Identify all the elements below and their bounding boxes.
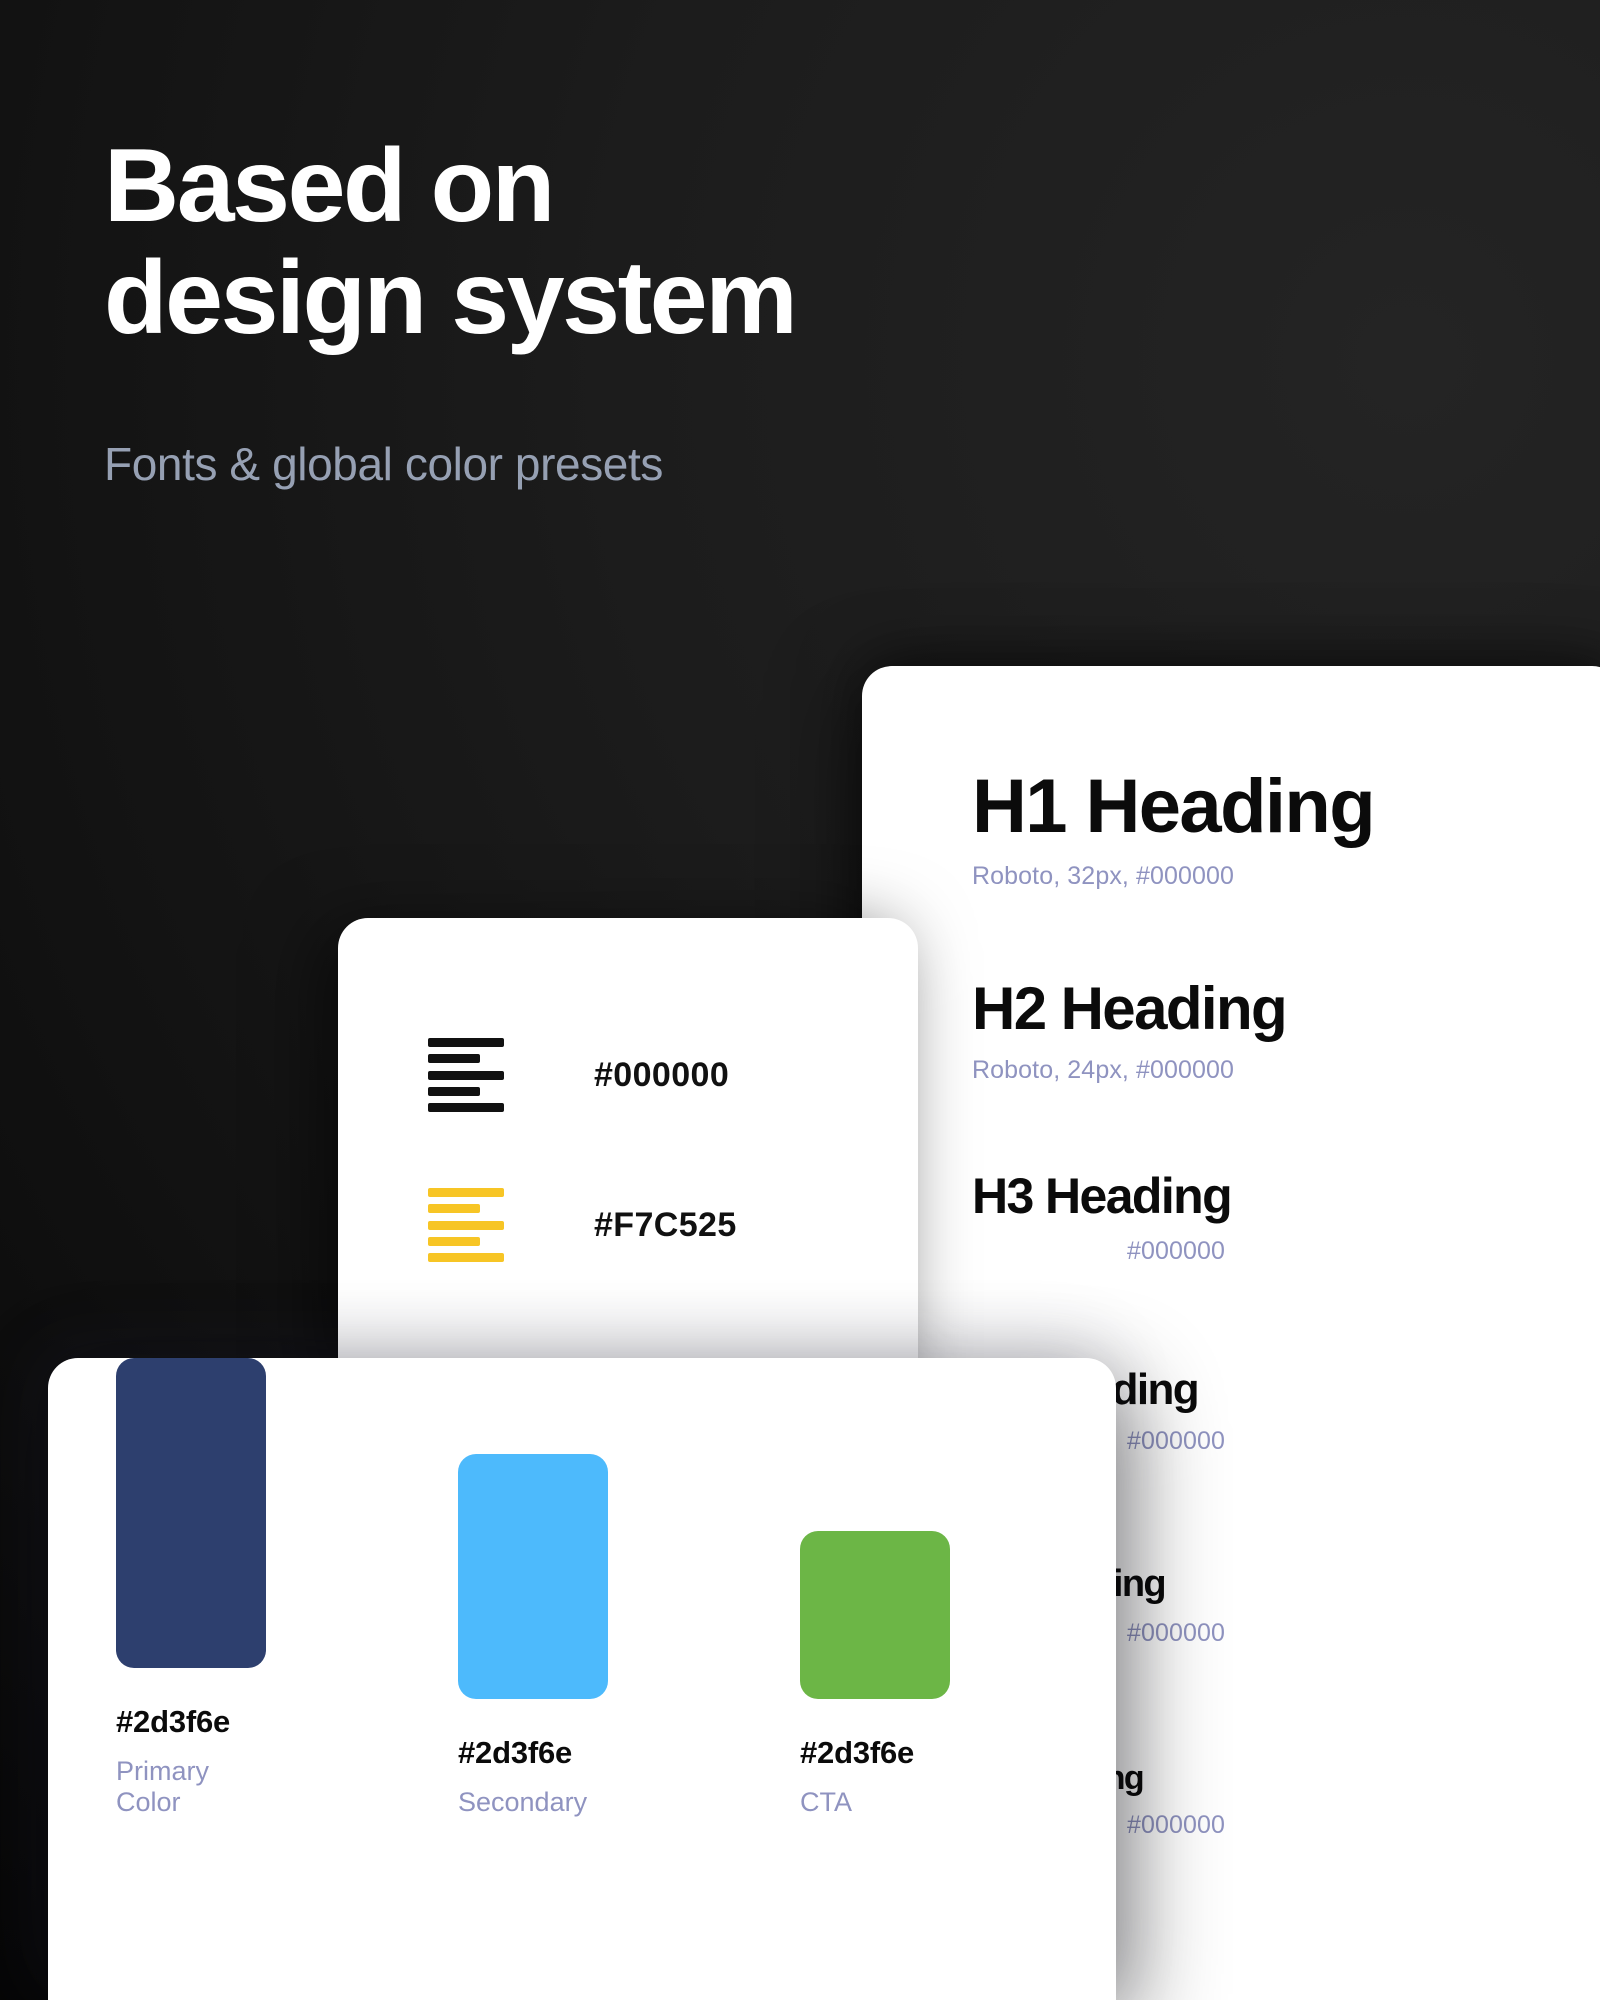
type-sample-h3: H3 Heading xyxy=(972,1169,1600,1223)
type-row-h3: H3 Heading #000000 xyxy=(972,1169,1600,1266)
text-style-hex: #F7C525 xyxy=(594,1206,737,1245)
color-chip-primary[interactable] xyxy=(116,1358,266,1668)
color-hex-primary: #2d3f6e xyxy=(116,1704,266,1740)
color-swatch-item[interactable]: #2d3f6e Primary Color xyxy=(116,1358,266,1818)
type-meta-h1: Roboto, 32px, #000000 xyxy=(972,862,1600,891)
text-align-left-icon[interactable] xyxy=(428,1038,504,1112)
color-hex-cta: #2d3f6e xyxy=(800,1735,950,1771)
text-style-hex: #000000 xyxy=(594,1056,729,1095)
page-title: Based on design system xyxy=(104,130,1204,355)
type-row-h1: H1 Heading Roboto, 32px, #000000 xyxy=(972,766,1600,891)
type-meta-h2: Roboto, 24px, #000000 xyxy=(972,1056,1600,1085)
color-chip-secondary[interactable] xyxy=(458,1454,608,1699)
colors-card[interactable]: Colors #2d3f6e Primary Color #2d3f6e Sec… xyxy=(48,1358,1116,2000)
color-hex-secondary: #2d3f6e xyxy=(458,1735,608,1771)
poster-canvas: Based on design system Fonts & global co… xyxy=(0,0,1600,2000)
color-chip-cta[interactable] xyxy=(800,1531,950,1699)
color-swatch-item[interactable]: #2d3f6e Secondary xyxy=(458,1454,608,1818)
text-styles-card[interactable]: #000000 #F7C525 xyxy=(338,918,918,1378)
type-sample-h1: H1 Heading xyxy=(972,766,1600,848)
color-swatch-row: #2d3f6e Primary Color #2d3f6e Secondary … xyxy=(48,1498,1116,1818)
type-row-h2: H2 Heading Roboto, 24px, #000000 xyxy=(972,977,1600,1085)
type-sample-h2: H2 Heading xyxy=(972,977,1600,1042)
hero-section: Based on design system Fonts & global co… xyxy=(104,130,1204,491)
color-label-primary: Primary Color xyxy=(116,1756,266,1818)
color-swatch-item[interactable]: #2d3f6e CTA xyxy=(800,1531,950,1818)
type-meta-h3: #000000 xyxy=(972,1237,1600,1266)
color-label-secondary: Secondary xyxy=(458,1787,608,1818)
color-label-cta: CTA xyxy=(800,1787,950,1818)
text-style-row[interactable]: #000000 xyxy=(338,1000,918,1150)
page-subtitle: Fonts & global color presets xyxy=(104,437,1204,491)
text-align-left-icon[interactable] xyxy=(428,1188,504,1262)
text-style-row[interactable]: #F7C525 xyxy=(338,1150,918,1300)
